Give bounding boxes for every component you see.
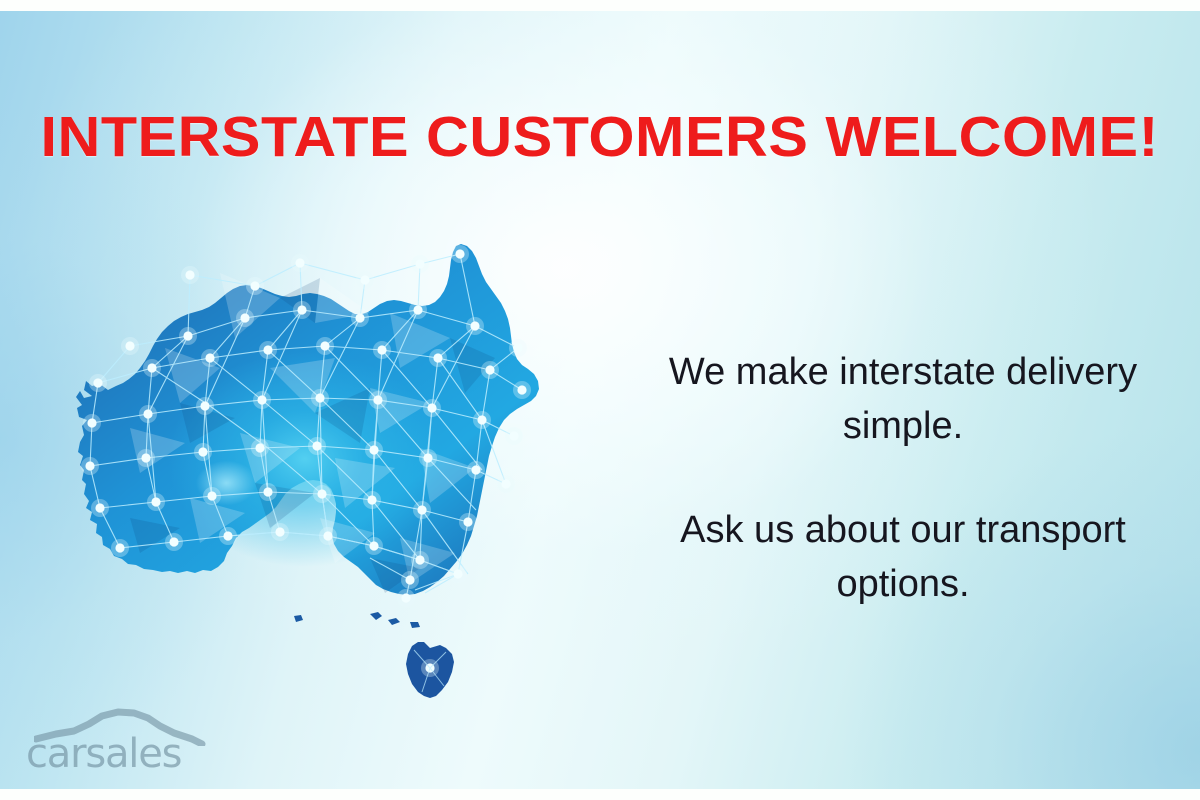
page-title: INTERSTATE CUSTOMERS WELCOME! (0, 108, 1200, 168)
frame-band-top (0, 0, 1200, 11)
carsales-wordmark: carsales (26, 734, 216, 774)
interstate-customers-banner: INTERSTATE CUSTOMERS WELCOME! We make in… (0, 0, 1200, 800)
map-tasmania (406, 642, 454, 698)
copy-spacer (668, 454, 1138, 504)
carsales-logo: carsales (26, 706, 216, 782)
map-small-islands (294, 612, 420, 628)
australia-map (70, 218, 650, 738)
frame-band-bottom (0, 789, 1200, 800)
promo-copy: We make interstate delivery simple. Ask … (668, 346, 1138, 612)
headline-text: INTERSTATE CUSTOMERS WELCOME! (41, 108, 1159, 168)
copy-paragraph-2: Ask us about our transport options. (668, 504, 1138, 612)
copy-paragraph-1: We make interstate delivery simple. (668, 346, 1138, 454)
